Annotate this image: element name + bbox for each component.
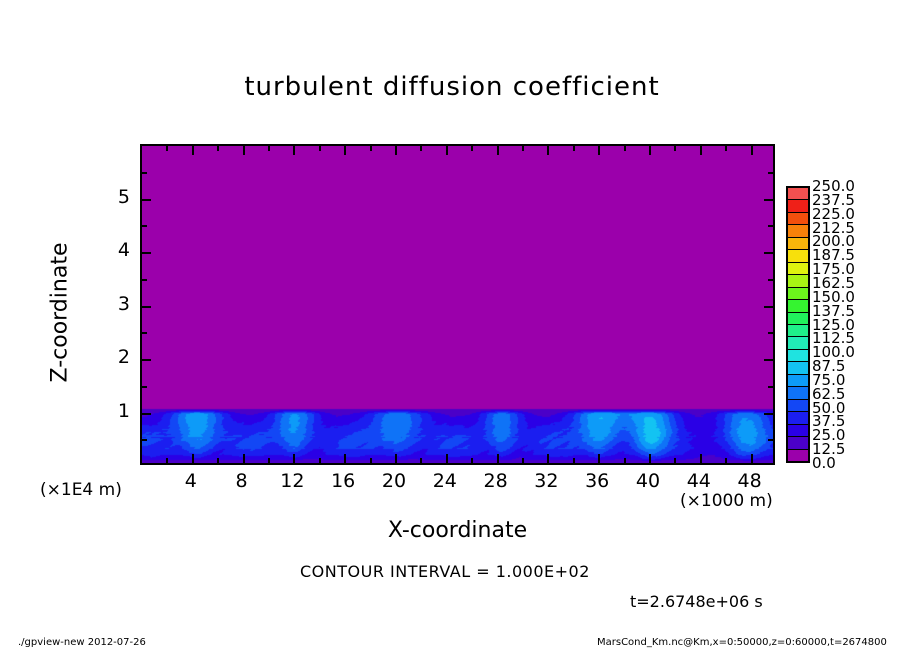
x-axis-tick-top [598, 146, 600, 155]
x-axis-tick [725, 458, 727, 463]
y-axis-tick-right [764, 359, 773, 361]
x-axis-tick-top [217, 146, 219, 151]
contour-interval-text: CONTOUR INTERVAL = 1.000E+02 [300, 562, 590, 581]
x-axis-tick [344, 454, 346, 463]
colorbar-band [788, 288, 808, 300]
y-axis-tick [142, 332, 147, 334]
y-axis-tick [142, 199, 151, 201]
colorbar [786, 186, 810, 463]
colorbar-band [788, 300, 808, 312]
x-axis-tick-top [420, 146, 422, 151]
x-axis-tick [395, 454, 397, 463]
x-axis-tick [319, 458, 321, 463]
y-axis-tick-right [764, 252, 773, 254]
y-axis-tick-label: 4 [90, 239, 130, 261]
colorbar-band [788, 200, 808, 212]
plot-area [140, 144, 775, 465]
colorbar-band [788, 225, 808, 237]
colorbar-band [788, 313, 808, 325]
colorbar-band [788, 425, 808, 437]
x-axis-tick-top [370, 146, 372, 151]
x-axis-tick [700, 454, 702, 463]
colorbar-tick-label: 0.0 [812, 456, 836, 470]
y-axis-tick-label: 3 [90, 293, 130, 315]
x-axis-tick-top [319, 146, 321, 151]
y-axis-tick [142, 279, 147, 281]
timestamp-text: t=2.6748e+06 s [630, 592, 763, 611]
x-axis-tick-top [471, 146, 473, 151]
y-axis-tick-right [768, 386, 773, 388]
x-axis-tick-top [395, 146, 397, 155]
y-axis-tick-right [768, 279, 773, 281]
x-axis-tick-top [497, 146, 499, 155]
x-axis-tick-top [547, 146, 549, 155]
colorbar-band [788, 350, 808, 362]
y-axis-title: Z-coordinate [48, 193, 73, 433]
x-axis-tick-top [751, 146, 753, 155]
x-axis-tick [471, 458, 473, 463]
y-axis-tick-label: 5 [90, 186, 130, 208]
x-axis-tick-top [674, 146, 676, 151]
y-axis-tick-right [764, 199, 773, 201]
colorbar-band [788, 450, 808, 461]
x-axis-tick-top [573, 146, 575, 151]
x-axis-tick [192, 454, 194, 463]
y-axis-tick-right [764, 413, 773, 415]
y-axis-tick [142, 225, 147, 227]
y-axis-tick-right [764, 306, 773, 308]
y-axis-tick [142, 386, 147, 388]
colorbar-band [788, 400, 808, 412]
x-axis-tick [547, 454, 549, 463]
x-axis-tick [217, 458, 219, 463]
y-axis-tick-label: 1 [90, 400, 130, 422]
x-axis-tick [243, 454, 245, 463]
x-axis-tick [573, 458, 575, 463]
y-axis-tick [142, 439, 147, 441]
x-axis-tick [420, 458, 422, 463]
y-axis-tick [142, 172, 147, 174]
x-axis-tick [293, 454, 295, 463]
colorbar-band [788, 337, 808, 349]
colorbar-band [788, 362, 808, 374]
x-axis-unit: (×1000 m) [680, 491, 773, 511]
x-axis-tick-top [243, 146, 245, 155]
x-axis-tick-top [344, 146, 346, 155]
y-axis-tick-right [768, 332, 773, 334]
colorbar-band [788, 263, 808, 275]
colorbar-band [788, 188, 808, 200]
colorbar-band [788, 275, 808, 287]
x-axis-tick-top [624, 146, 626, 151]
x-axis-tick-top [268, 146, 270, 151]
y-axis-tick-right [768, 225, 773, 227]
footer-command: ./gpview-new 2012-07-26 [18, 637, 146, 648]
x-axis-tick-top [700, 146, 702, 155]
footer-source: MarsCond_Km.nc@Km,x=0:50000,z=0:60000,t=… [597, 637, 887, 648]
x-axis-tick [166, 458, 168, 463]
colorbar-band [788, 238, 808, 250]
heatmap-canvas [142, 146, 773, 463]
chart-title: turbulent diffusion coefficient [0, 72, 904, 102]
x-axis-tick [598, 454, 600, 463]
x-axis-tick-top [192, 146, 194, 155]
colorbar-band [788, 213, 808, 225]
y-axis-tick [142, 252, 151, 254]
x-axis-tick-top [649, 146, 651, 155]
x-axis-tick [446, 454, 448, 463]
x-axis-tick [649, 454, 651, 463]
y-axis-tick [142, 413, 151, 415]
x-axis-tick [674, 458, 676, 463]
x-axis-tick [497, 454, 499, 463]
x-axis-tick [370, 458, 372, 463]
x-axis-tick-top [725, 146, 727, 151]
colorbar-band [788, 325, 808, 337]
x-axis-tick-top [293, 146, 295, 155]
y-axis-tick-right [768, 172, 773, 174]
colorbar-band [788, 375, 808, 387]
colorbar-labels: 250.0237.5225.0212.5200.0187.5175.0162.5… [812, 178, 892, 471]
x-axis-tick [522, 458, 524, 463]
y-axis-tick [142, 306, 151, 308]
colorbar-band [788, 437, 808, 449]
x-axis-tick-label: 48 [720, 470, 780, 492]
x-axis-tick-top [166, 146, 168, 151]
colorbar-band [788, 250, 808, 262]
x-axis-tick [624, 458, 626, 463]
y-axis-tick-right [768, 439, 773, 441]
colorbar-band [788, 412, 808, 424]
x-axis-tick-top [522, 146, 524, 151]
x-axis-tick [268, 458, 270, 463]
y-axis-tick-label: 2 [90, 346, 130, 368]
y-axis-unit: (×1E4 m) [40, 480, 122, 500]
colorbar-band [788, 387, 808, 399]
x-axis-tick-top [446, 146, 448, 155]
x-axis-tick [751, 454, 753, 463]
x-axis-title: X-coordinate [140, 518, 775, 543]
y-axis-tick [142, 359, 151, 361]
